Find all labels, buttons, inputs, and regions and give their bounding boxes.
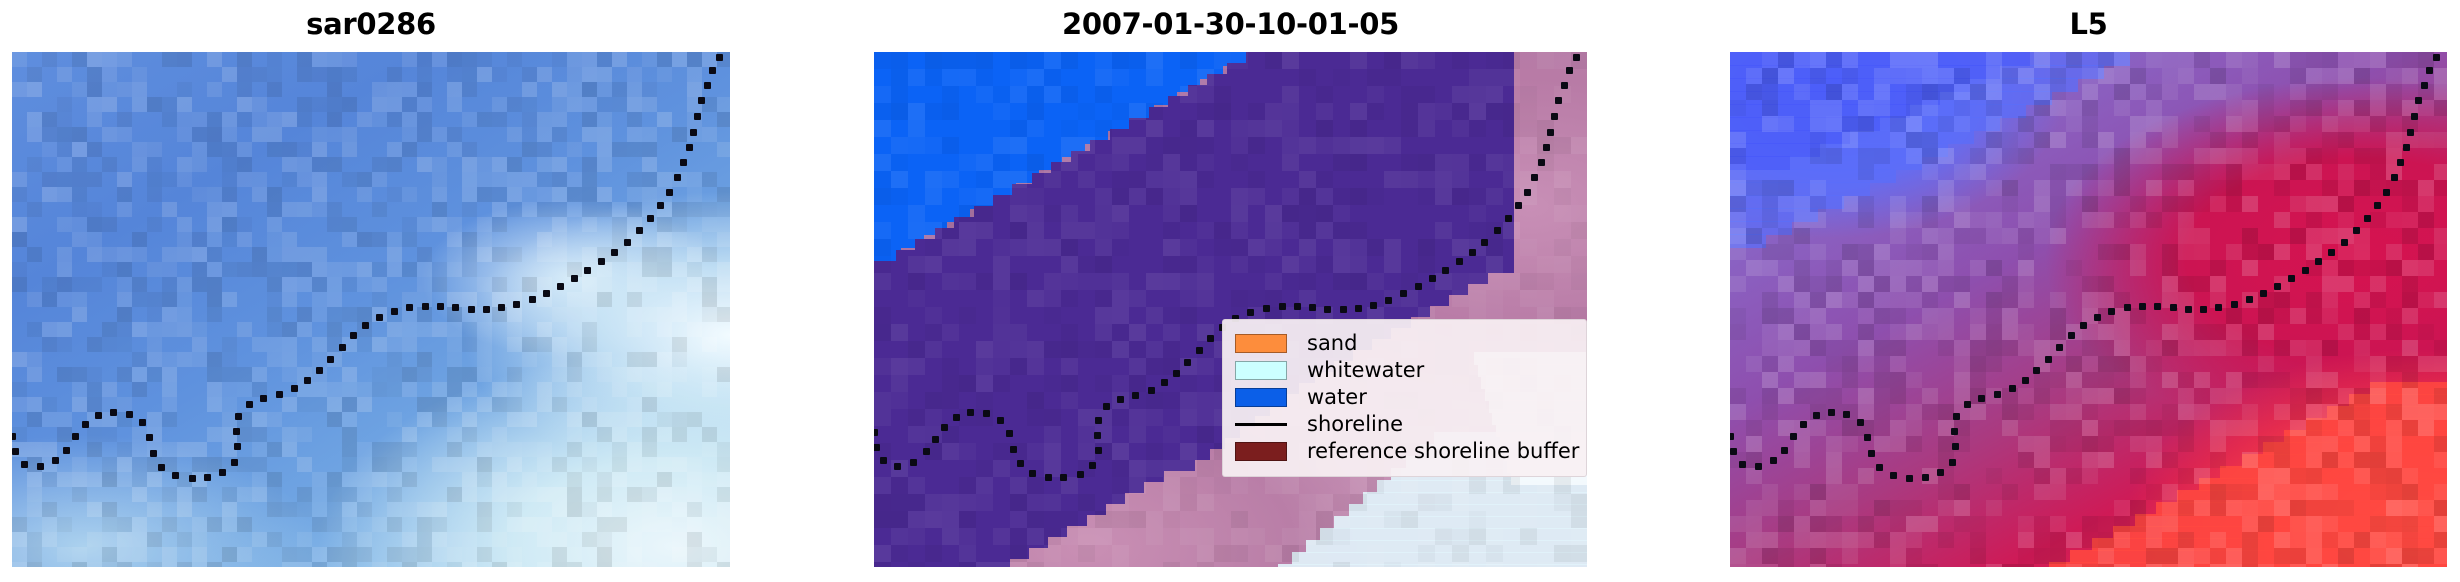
- figure-root: sar0286 2007-01-30-10-01-05 L5: [0, 0, 2460, 582]
- legend-label-reference-buffer: reference shoreline buffer: [1307, 438, 1579, 465]
- legend-label-shoreline: shoreline: [1307, 411, 1403, 438]
- legend-item-whitewater[interactable]: whitewater: [1235, 357, 1574, 384]
- legend-label-water: water: [1307, 384, 1367, 411]
- legend[interactable]: sand whitewater water shoreline referenc…: [1222, 319, 1587, 477]
- sar-shoreline-overlay: [12, 52, 730, 567]
- legend-swatch-shoreline: [1235, 423, 1287, 426]
- classified-shoreline-overlay: [874, 52, 1587, 567]
- legend-swatch-sand: [1235, 334, 1287, 353]
- legend-label-whitewater: whitewater: [1307, 357, 1424, 384]
- legend-swatch-water: [1235, 388, 1287, 407]
- legend-swatch-reference-buffer: [1235, 442, 1287, 461]
- panel-title-classified: 2007-01-30-10-01-05: [874, 4, 1587, 44]
- legend-item-reference-buffer[interactable]: reference shoreline buffer: [1235, 438, 1574, 465]
- classified-image: sand whitewater water shoreline referenc…: [874, 52, 1587, 567]
- l5-image: [1730, 52, 2447, 567]
- legend-item-sand[interactable]: sand: [1235, 330, 1574, 357]
- panel-title-l5: L5: [1730, 4, 2447, 44]
- panel-l5[interactable]: [1730, 52, 2447, 567]
- sar-image: [12, 52, 730, 567]
- panel-sar[interactable]: [12, 52, 730, 567]
- panel-classified[interactable]: sand whitewater water shoreline referenc…: [874, 52, 1587, 567]
- legend-item-shoreline[interactable]: shoreline: [1235, 411, 1574, 438]
- legend-swatch-whitewater: [1235, 361, 1287, 380]
- legend-item-water[interactable]: water: [1235, 384, 1574, 411]
- l5-shoreline-overlay: [1730, 52, 2447, 567]
- panel-title-sar: sar0286: [12, 4, 730, 44]
- legend-label-sand: sand: [1307, 330, 1357, 357]
